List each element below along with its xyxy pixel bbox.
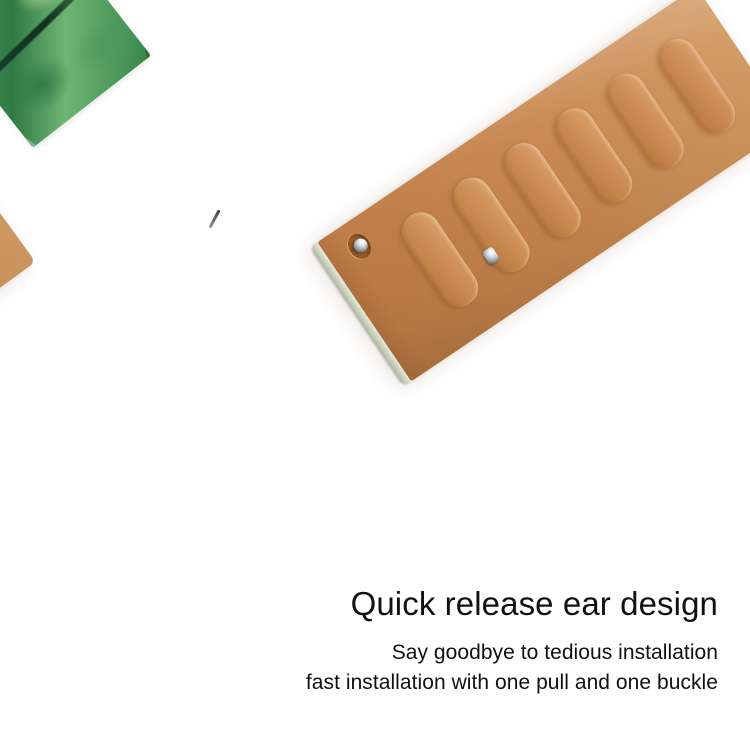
upper-strap-ridges bbox=[315, 0, 750, 383]
lower-strap-ridges bbox=[0, 103, 36, 591]
caption-block: Quick release ear design Say goodbye to … bbox=[218, 585, 718, 698]
product-image-canvas: Quick release ear design Say goodbye to … bbox=[0, 0, 750, 750]
lower-strap-spring-bar-needle bbox=[208, 209, 220, 228]
lower-brown-strap bbox=[0, 103, 36, 591]
caption-subline-2: fast installation with one pull and one … bbox=[218, 668, 718, 698]
upper-brown-strap bbox=[315, 0, 750, 383]
caption-headline: Quick release ear design bbox=[218, 585, 718, 624]
leaf-print-strap bbox=[0, 0, 151, 148]
caption-subline-1: Say goodbye to tedious installation bbox=[218, 638, 718, 668]
